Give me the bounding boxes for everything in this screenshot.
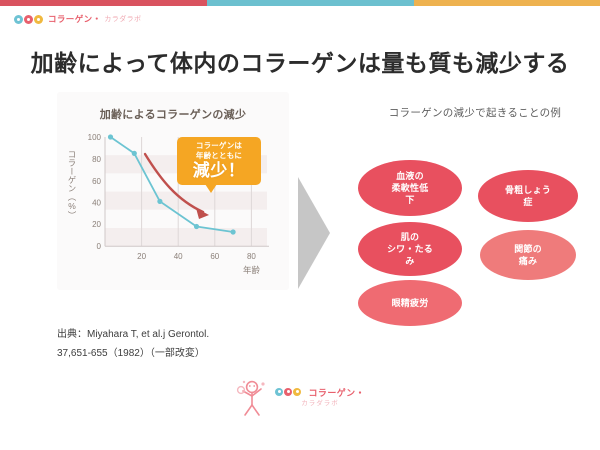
chart-data-point bbox=[157, 199, 162, 204]
chart-xtick-20: 20 bbox=[137, 252, 146, 261]
bubble-line: 柔軟性低 bbox=[392, 182, 429, 194]
chart-callout-bubble: コラーゲンは 年齢とともに 減少！ bbox=[177, 137, 261, 185]
bubble-line: 骨粗しょう bbox=[505, 184, 551, 196]
effects-panel: コラーゲンの減少で起きることの例 血液の 柔軟性低 下 骨粗しょう 症 肌の シ… bbox=[350, 92, 600, 312]
effect-bubble-skin-wrinkles: 肌の シワ・たる み bbox=[358, 222, 462, 276]
effect-bubble-joint-pain: 関節の 痛み bbox=[480, 230, 576, 280]
chart-band bbox=[105, 228, 267, 246]
chart-x-axis-label: 年齢 bbox=[243, 264, 260, 276]
chart-ytick-80: 80 bbox=[92, 155, 101, 164]
citation-line-1: 出典：Miyahara T, et al.j Gerontol. bbox=[57, 325, 209, 344]
chart-plot-area: 100 80 60 40 20 0 20 40 60 80 bbox=[57, 92, 289, 290]
page-title: 加齢によって体内のコラーゲンは量も質も減少する bbox=[0, 44, 600, 78]
bubble-line: 痛み bbox=[514, 255, 542, 267]
footer-dot-teal-icon bbox=[275, 388, 283, 396]
chart-xtick-80: 80 bbox=[247, 252, 256, 261]
chart-data-point bbox=[194, 224, 199, 229]
chart-xtick-40: 40 bbox=[174, 252, 183, 261]
bubble-line: 関節の bbox=[514, 243, 542, 255]
mascot-icon bbox=[235, 378, 269, 418]
header-logo-main-text: コラーゲン・ bbox=[48, 13, 101, 25]
chart-ytick-20: 20 bbox=[92, 220, 101, 229]
effect-bubble-eye-fatigue: 眼精疲労 bbox=[358, 280, 462, 326]
top-bar-segment-teal bbox=[207, 0, 414, 6]
gray-right-arrow-icon bbox=[296, 177, 332, 294]
bubble-line: シワ・たる bbox=[387, 243, 433, 255]
logo-dot-red-icon bbox=[24, 15, 33, 24]
bubble-line: 血液の bbox=[392, 170, 429, 182]
footer-dot-yellow-icon bbox=[293, 388, 301, 396]
bubble-line: 肌の bbox=[387, 231, 433, 243]
logo-dot-yellow-icon bbox=[34, 15, 43, 24]
chart-ytick-40: 40 bbox=[92, 198, 101, 207]
callout-line-2: 年齢とともに bbox=[179, 151, 259, 161]
chart-data-point bbox=[108, 134, 113, 139]
chart-data-point bbox=[132, 151, 137, 156]
citation-line-2: 37,651-655（1982）（一部改変） bbox=[57, 344, 209, 363]
effect-bubble-osteoporosis: 骨粗しょう 症 bbox=[478, 170, 578, 222]
bubble-line: 眼精疲労 bbox=[392, 297, 429, 309]
effect-bubble-blood-flexibility: 血液の 柔軟性低 下 bbox=[358, 160, 462, 216]
logo-dot-teal-icon bbox=[14, 15, 23, 24]
logo-dots-icon bbox=[14, 15, 43, 24]
top-color-bar bbox=[0, 0, 600, 6]
chart-data-point bbox=[231, 229, 236, 234]
footer-logo: コラーゲン・ カラダラボ bbox=[0, 378, 600, 418]
chart-y-axis-label: コラーゲン（%） bbox=[65, 150, 77, 220]
bubble-line: 下 bbox=[392, 194, 429, 206]
callout-line-1: コラーゲンは bbox=[179, 141, 259, 151]
callout-emphasis-text: 減少！ bbox=[179, 161, 259, 180]
bubble-line: み bbox=[387, 255, 433, 267]
footer-logo-dots-icon bbox=[275, 388, 301, 396]
chart-xtick-60: 60 bbox=[210, 252, 219, 261]
footer-logo-main-text: コラーゲン・ bbox=[309, 388, 365, 398]
site-header: コラーゲン・ カラダラボ bbox=[0, 6, 600, 32]
header-logo-sub-text: カラダラボ bbox=[104, 14, 141, 24]
footer-logo-texts: コラーゲン・ カラダラボ bbox=[275, 387, 365, 409]
chart-ytick-0: 0 bbox=[97, 242, 102, 251]
citation-block: 出典：Miyahara T, et al.j Gerontol. 37,651-… bbox=[57, 325, 209, 363]
top-bar-segment-red bbox=[0, 0, 207, 6]
content-area: 加齢によるコラーゲンの減少 100 80 bbox=[0, 92, 600, 290]
bubble-line: 症 bbox=[505, 196, 551, 208]
chart-svg: 100 80 60 40 20 0 20 40 60 80 bbox=[57, 92, 289, 290]
footer-dot-red-icon bbox=[284, 388, 292, 396]
chart-ytick-60: 60 bbox=[92, 177, 101, 186]
chart-ytick-100: 100 bbox=[88, 133, 102, 142]
effects-bubble-group: 血液の 柔軟性低 下 骨粗しょう 症 肌の シワ・たる み bbox=[350, 142, 600, 312]
collagen-decline-chart: 加齢によるコラーゲンの減少 100 80 bbox=[57, 92, 289, 290]
footer-logo-sub-text: カラダラボ bbox=[275, 399, 365, 409]
effects-heading: コラーゲンの減少で起きることの例 bbox=[350, 92, 600, 120]
top-bar-segment-orange bbox=[414, 0, 600, 6]
